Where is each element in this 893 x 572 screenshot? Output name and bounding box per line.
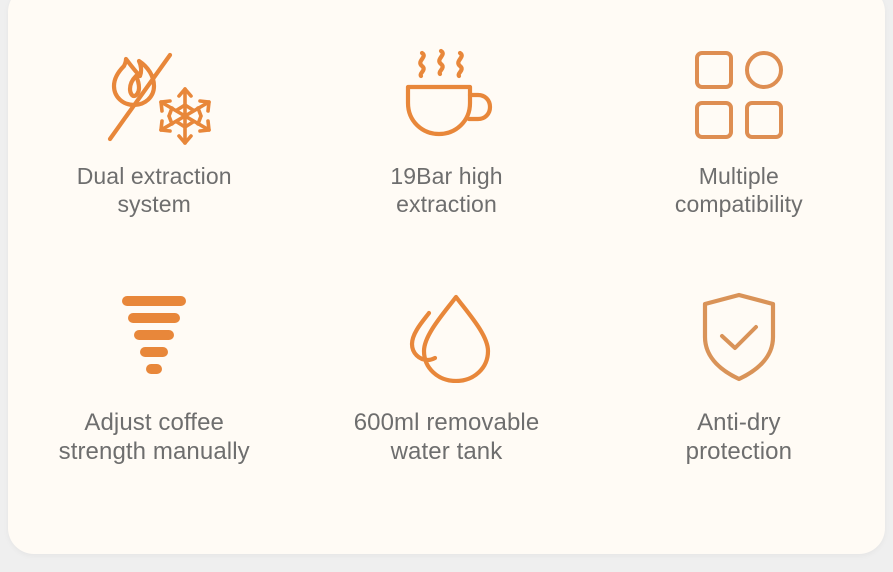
feature-label: Anti-dry protection: [686, 408, 792, 467]
feature-item-multiple-compatibility: Multiple compatibility: [593, 22, 885, 272]
water-drops-icon: [381, 282, 511, 392]
page-root: Dual extraction system 19Bar high extrac…: [0, 0, 893, 572]
feature-item-water-tank: 600ml removable water tank: [300, 272, 592, 522]
coffee-cup-steam-icon: [381, 40, 511, 150]
feature-label: 19Bar high extraction: [390, 162, 502, 218]
feature-item-dual-extraction: Dual extraction system: [8, 22, 300, 272]
strength-funnel-icon: [89, 282, 219, 392]
feature-label: 600ml removable water tank: [354, 408, 540, 467]
shield-check-icon: [674, 282, 804, 392]
feature-card: Dual extraction system 19Bar high extrac…: [8, 0, 885, 554]
feature-label: Dual extraction system: [77, 162, 232, 218]
feature-label: Multiple compatibility: [675, 162, 803, 218]
feature-item-high-extraction: 19Bar high extraction: [300, 22, 592, 272]
feature-item-anti-dry: Anti-dry protection: [593, 272, 885, 522]
feature-grid: Dual extraction system 19Bar high extrac…: [8, 22, 885, 522]
fire-snowflake-icon: [89, 40, 219, 150]
feature-item-adjust-strength: Adjust coffee strength manually: [8, 272, 300, 522]
feature-label: Adjust coffee strength manually: [59, 408, 250, 467]
grid-shapes-icon: [674, 40, 804, 150]
